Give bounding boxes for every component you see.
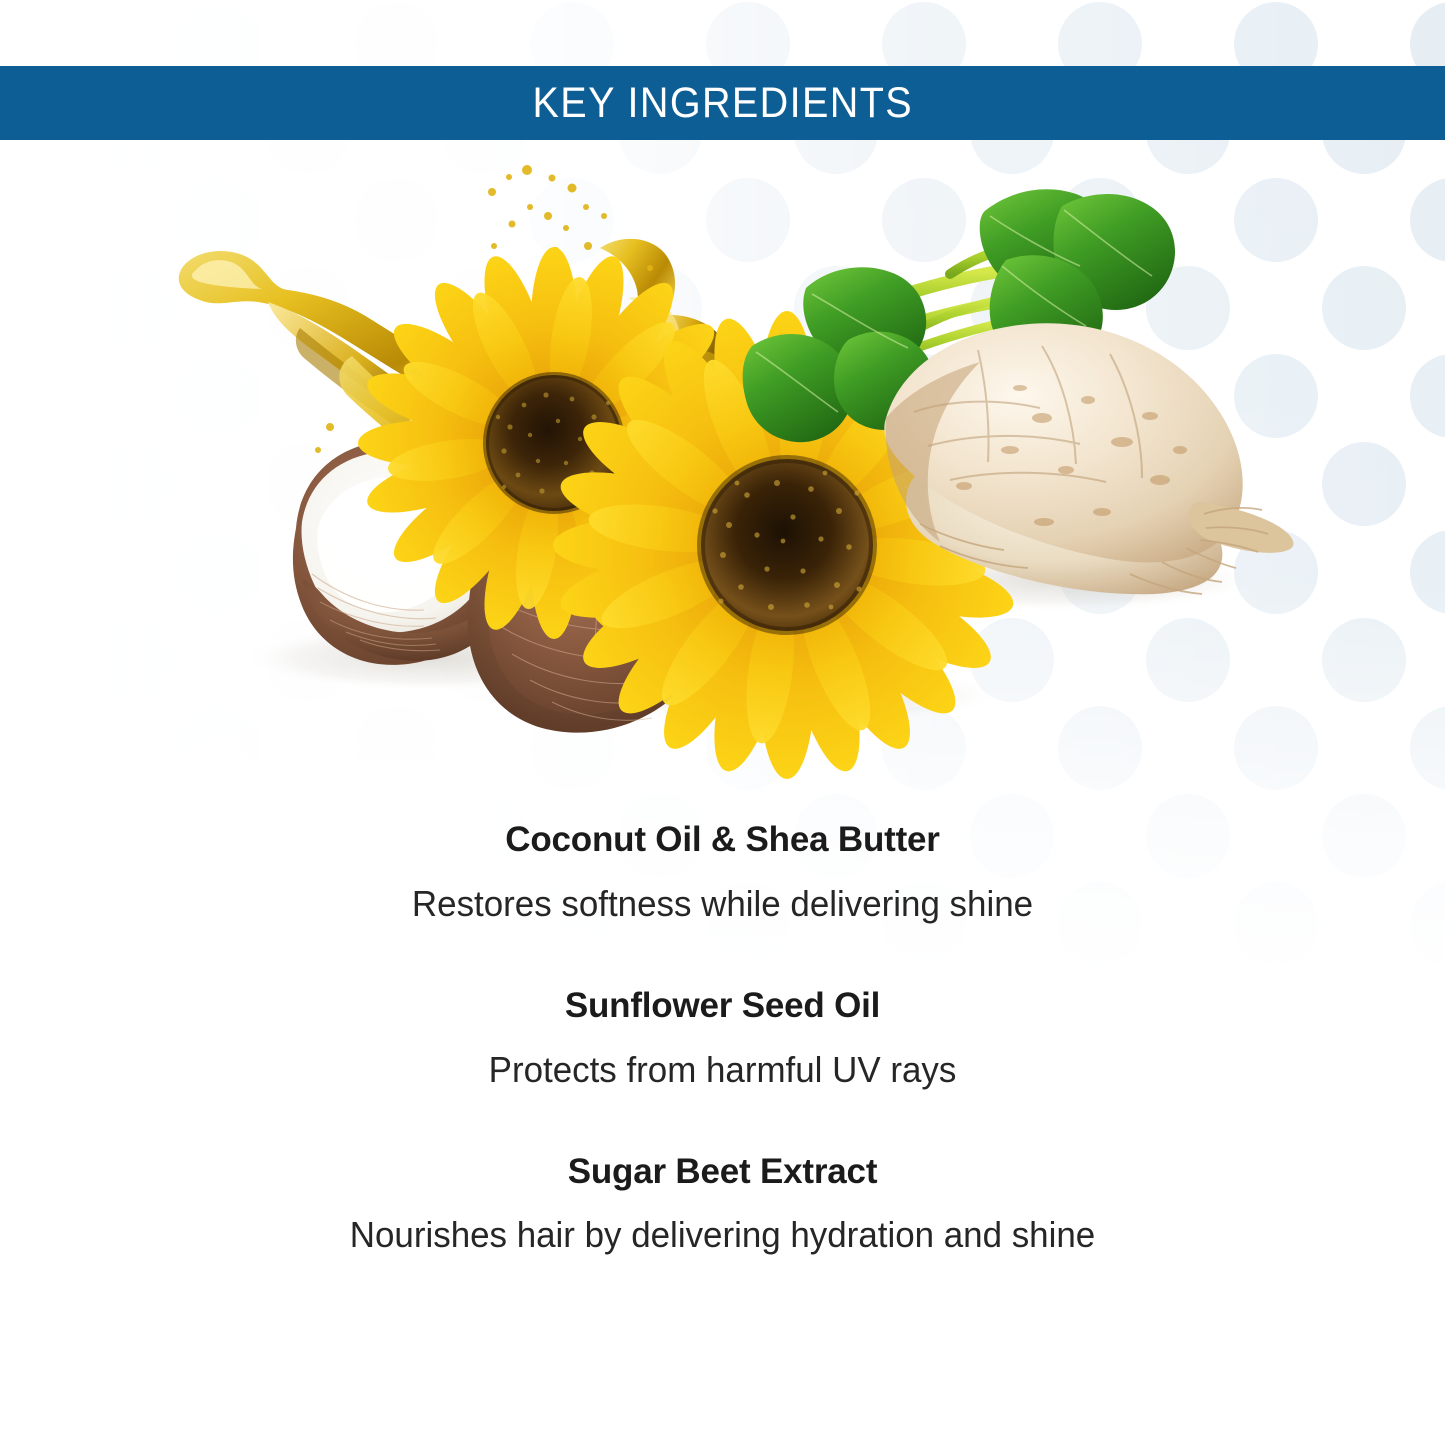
list-item: Sunflower Seed Oil Protects from harmful… [0,984,1445,1092]
ingredient-description: Nourishes hair by delivering hydration a… [22,1212,1424,1257]
hero-illustration [0,150,1445,790]
key-ingredients-banner: KEY INGREDIENTS [0,66,1445,140]
page-title: KEY INGREDIENTS [532,79,912,128]
ingredients-hero-image [0,150,1445,790]
ingredient-description: Restores softness while delivering shine [22,881,1424,926]
list-item: Coconut Oil & Shea Butter Restores softn… [0,818,1445,926]
ingredient-list: Coconut Oil & Shea Butter Restores softn… [0,818,1445,1257]
ingredient-name: Coconut Oil & Shea Butter [0,818,1445,862]
ingredient-description: Protects from harmful UV rays [22,1047,1424,1092]
list-item: Sugar Beet Extract Nourishes hair by del… [0,1150,1445,1258]
ingredient-name: Sunflower Seed Oil [0,984,1445,1028]
ingredient-name: Sugar Beet Extract [0,1150,1445,1194]
